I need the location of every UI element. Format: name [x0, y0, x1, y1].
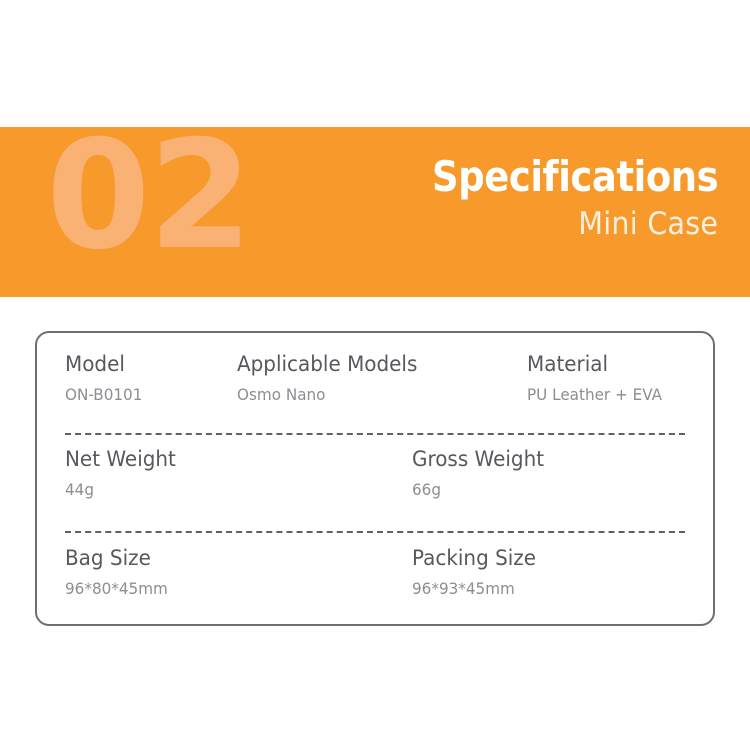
- spec-row: Net Weight 44g Gross Weight 66g: [37, 446, 713, 518]
- spec-cell-material: Material PU Leather + EVA: [527, 351, 669, 405]
- spec-value: PU Leather + EVA: [527, 385, 662, 405]
- spec-label: Gross Weight: [412, 446, 544, 472]
- row-divider: [65, 433, 685, 435]
- spec-cell-model: Model ON-B0101: [65, 351, 146, 405]
- specifications-card: Model ON-B0101 Applicable Models Osmo Na…: [35, 331, 715, 626]
- banner-title-group: Specifications Mini Case: [393, 155, 718, 241]
- row-divider: [65, 531, 685, 533]
- spec-label: Model: [65, 351, 142, 377]
- spec-value: 96*93*45mm: [412, 579, 536, 599]
- spec-value: 44g: [65, 480, 176, 500]
- spec-cell-applicable-models: Applicable Models Osmo Nano: [237, 351, 427, 405]
- spec-cell-gross-weight: Gross Weight 66g: [412, 446, 551, 500]
- section-number: 02: [46, 127, 251, 271]
- spec-value: ON-B0101: [65, 385, 142, 405]
- spec-value: 66g: [412, 480, 544, 500]
- spec-cell-packing-size: Packing Size 96*93*45mm: [412, 545, 543, 599]
- page-subtitle: Mini Case: [419, 207, 718, 241]
- spec-label: Bag Size: [65, 545, 168, 571]
- spec-value: 96*80*45mm: [65, 579, 168, 599]
- spec-value: Osmo Nano: [237, 385, 417, 405]
- spec-row: Model ON-B0101 Applicable Models Osmo Na…: [37, 351, 713, 423]
- spec-cell-bag-size: Bag Size 96*80*45mm: [65, 545, 173, 599]
- specifications-banner: 02 Specifications Mini Case: [0, 127, 750, 297]
- spec-label: Material: [527, 351, 662, 377]
- page-title: Specifications: [432, 155, 718, 199]
- spec-label: Net Weight: [65, 446, 176, 472]
- spec-cell-net-weight: Net Weight 44g: [65, 446, 182, 500]
- spec-row: Bag Size 96*80*45mm Packing Size 96*93*4…: [37, 545, 713, 617]
- spec-label: Packing Size: [412, 545, 536, 571]
- spec-label: Applicable Models: [237, 351, 417, 377]
